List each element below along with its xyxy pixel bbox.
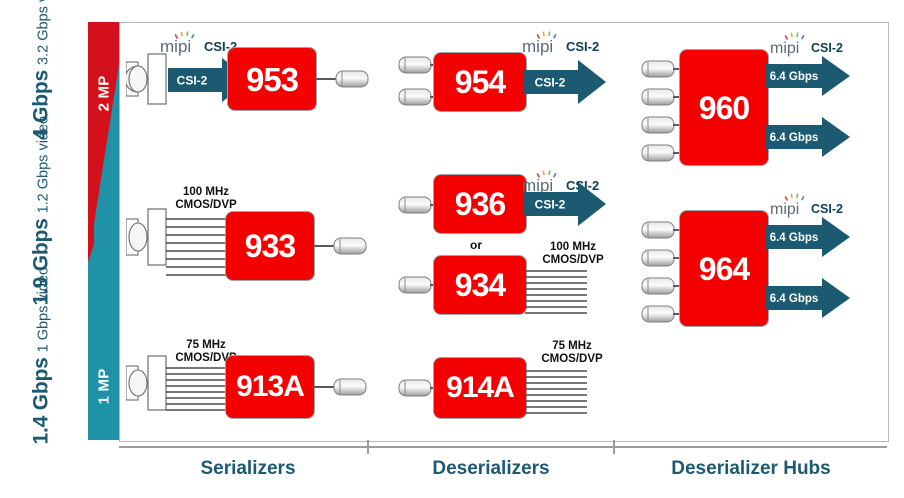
- chip-label-914a: 914A: [446, 373, 514, 403]
- video-value-row-4gbps: 3.2 Gbps video: [36, 0, 51, 65]
- hub-output-arrow-text-960-1: 6.4 Gbps: [770, 71, 819, 83]
- csi2-output-arrow-text-936: CSI-2: [535, 198, 566, 212]
- hub-output-arrow-960-1: 6.4 Gbps: [766, 56, 850, 96]
- svg-text:CSI-2: CSI-2: [811, 202, 843, 216]
- hub-output-arrow-text-960-2: 6.4 Gbps: [770, 132, 819, 144]
- bandwidth-value-row-14gbps: 1.4 Gbps: [30, 357, 51, 444]
- footer-divider-line: [119, 446, 887, 448]
- svg-text:CSI-2: CSI-2: [566, 39, 599, 54]
- csi2-output-arrow-text-954: CSI-2: [535, 76, 566, 90]
- hub-output-arrow-text-964-1: 6.4 Gbps: [770, 232, 819, 244]
- footer-label-serializers: Serializers: [129, 458, 367, 480]
- chip-960: 960: [680, 50, 768, 165]
- chip-label-913a: 913A: [236, 372, 304, 402]
- chip-964: 964: [680, 211, 768, 326]
- chip-913a: 913A: [226, 356, 314, 418]
- hub-output-arrow-964-1: 6.4 Gbps: [766, 217, 850, 257]
- diagram-canvas: 4 Gbps 3.2 Gbps video 1.9 Gbps 1.2 Gbps …: [0, 0, 904, 498]
- mipi-csi2-logo-954: mipi CSI-2: [522, 31, 614, 57]
- output-bus-934: CMOS/DVP: [528, 254, 618, 267]
- input-freq-913a: 75 MHz: [161, 339, 251, 352]
- parallel-bus-913a: [166, 365, 228, 413]
- svg-text:mipi: mipi: [522, 37, 553, 56]
- chip-label-933: 933: [245, 230, 295, 262]
- mipi-csi2-logo-960: mipi CSI-2: [770, 32, 862, 58]
- output-freq-934: 100 MHz: [528, 241, 618, 254]
- footer-label-deserializer-hubs: Deserializer Hubs: [615, 458, 887, 480]
- hub-output-arrow-text-964-2: 6.4 Gbps: [770, 293, 819, 305]
- footer-tick-1: [367, 440, 369, 454]
- coax-connector-933: [331, 235, 371, 257]
- camera-sensor-icon-953: [126, 52, 174, 106]
- svg-text:mipi: mipi: [160, 37, 191, 56]
- chip-label-954: 954: [455, 66, 505, 98]
- chip-934: 934: [434, 256, 526, 314]
- coax-connector-953: [333, 68, 373, 90]
- megapixel-label-2mp: 2 MP: [96, 66, 113, 122]
- output-caption-934: 100 MHz CMOS/DVP: [528, 241, 618, 267]
- axis-label-row-19gbps: 1.9 Gbps 1.2 Gbps video: [30, 146, 51, 276]
- csi2-output-arrow-954: CSI-2: [524, 60, 606, 104]
- svg-text:mipi: mipi: [770, 201, 799, 218]
- svg-text:mipi: mipi: [770, 40, 799, 57]
- hub-output-arrow-964-2: 6.4 Gbps: [766, 278, 850, 318]
- video-value-row-14gbps: 1 Gbps video: [36, 267, 51, 352]
- chip-953: 953: [228, 48, 316, 110]
- svg-text:CSI-2: CSI-2: [811, 41, 843, 55]
- axis-label-row-4gbps: 4 Gbps 3.2 Gbps video: [30, 0, 51, 119]
- input-freq-933: 100 MHz: [161, 186, 251, 199]
- parallel-bus-933: [166, 216, 228, 278]
- chip-914a: 914A: [434, 358, 526, 418]
- chip-label-934: 934: [455, 269, 505, 301]
- output-caption-914a: 75 MHz CMOS/DVP: [527, 340, 617, 366]
- chip-933: 933: [226, 212, 314, 280]
- chip-label-953: 953: [246, 63, 298, 96]
- output-freq-914a: 75 MHz: [527, 340, 617, 353]
- video-value-row-19gbps: 1.2 Gbps video: [36, 116, 51, 214]
- hub-output-arrow-960-2: 6.4 Gbps: [766, 117, 850, 157]
- output-bus-914a: CMOS/DVP: [527, 353, 617, 366]
- input-bus-933: CMOS/DVP: [161, 199, 251, 212]
- parallel-bus-934: [525, 268, 587, 314]
- footer-label-deserializers: Deserializers: [369, 458, 613, 480]
- csi2-output-arrow-936: CSI-2: [524, 182, 606, 226]
- parallel-bus-914a: [525, 368, 587, 416]
- chip-label-936: 936: [455, 188, 505, 220]
- chip-label-964: 964: [699, 253, 749, 285]
- mipi-csi2-logo-964: mipi CSI-2: [770, 193, 862, 219]
- axis-label-row-14gbps: 1.4 Gbps 1 Gbps video: [30, 291, 51, 421]
- coax-connector-913a: [331, 376, 371, 398]
- megapixel-label-1mp: 1 MP: [96, 359, 113, 415]
- chip-936: 936: [434, 175, 526, 233]
- chip-954: 954: [434, 53, 526, 111]
- input-caption-933: 100 MHz CMOS/DVP: [161, 186, 251, 212]
- csi2-input-arrow-text-953: CSI-2: [177, 74, 208, 88]
- footer-tick-2: [613, 440, 615, 454]
- alt-separator-label-936-934: or: [470, 238, 482, 252]
- chip-label-960: 960: [699, 92, 749, 124]
